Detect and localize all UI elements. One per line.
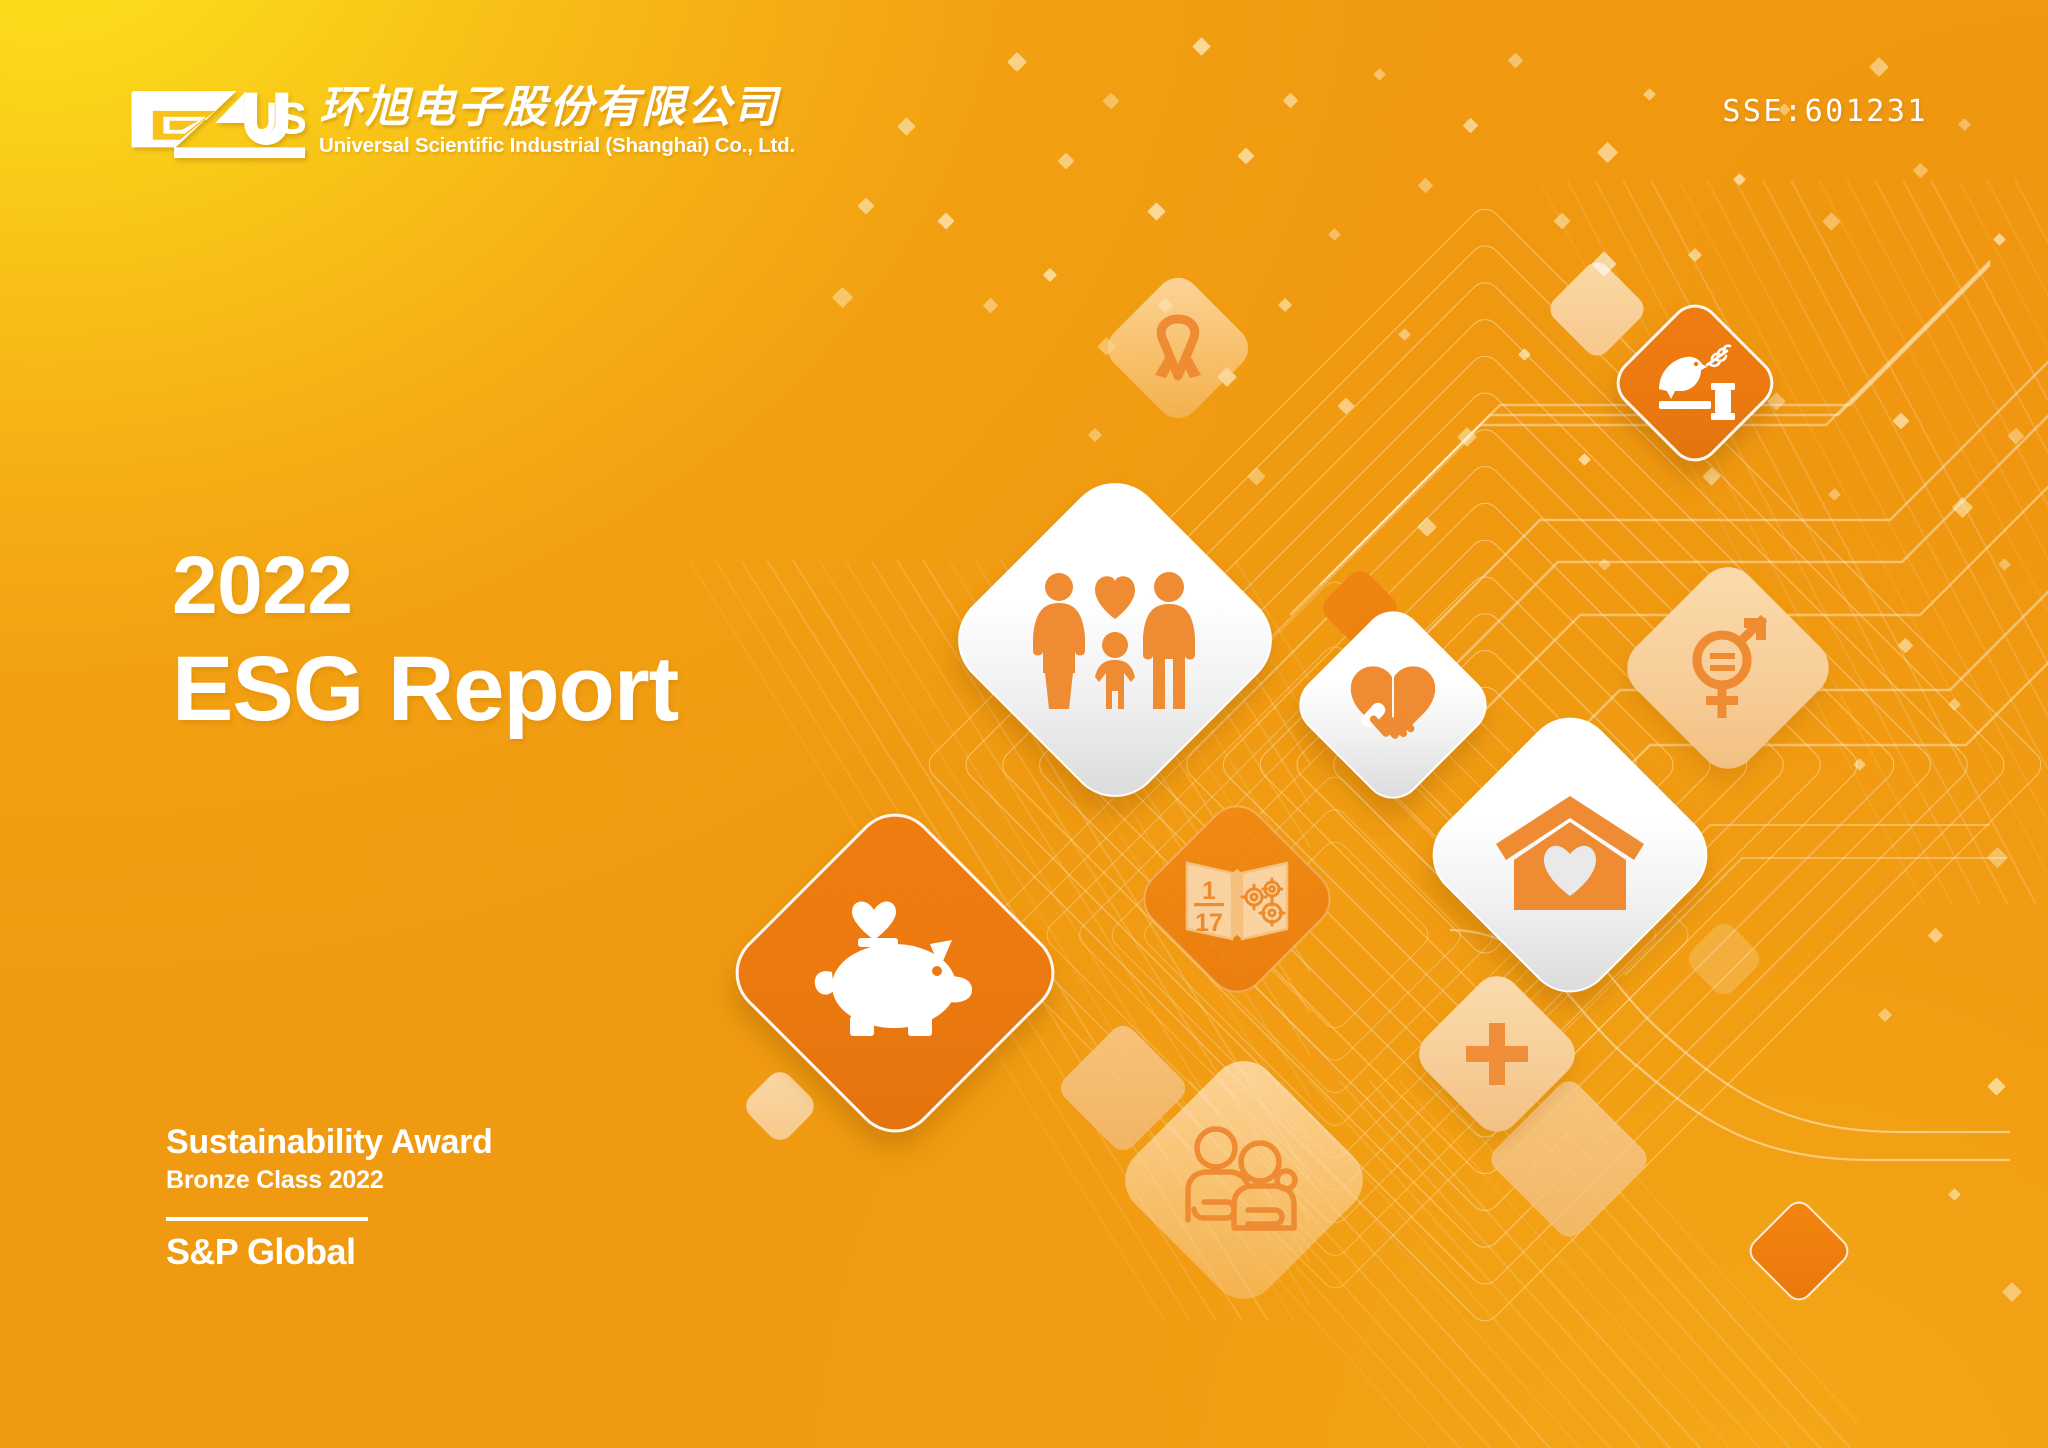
medical-cross-icon (1464, 1021, 1530, 1087)
education-book-icon: 1 17 (1182, 853, 1292, 945)
community-people-icon (1182, 1124, 1306, 1236)
home-heart-icon (1494, 792, 1646, 918)
badge-home-heart (1414, 699, 1725, 1010)
piggy-bank-heart-icon (806, 898, 984, 1048)
peace-dove-gavel-icon (1649, 343, 1741, 423)
stock-listing-code: SSE:601231 (1722, 94, 1928, 129)
usi-wing-logo-icon: USI (130, 88, 305, 158)
sustainability-award-badge: Sustainability Award Bronze Class 2022 S… (166, 1122, 493, 1273)
family-heart-icon (1025, 565, 1205, 715)
esg-report-cover: USI 环旭电子股份有限公司 Universal Scientific Indu… (0, 0, 2048, 1448)
book-fraction-denominator: 17 (1195, 909, 1223, 937)
concentric-diamond-rings (1480, 760, 1490, 770)
page-title: 2022 ESG Report (172, 545, 678, 744)
decor-diamond-6 (1744, 1196, 1854, 1306)
usi-logo-block: USI 环旭电子股份有限公司 Universal Scientific Indu… (130, 88, 795, 158)
badge-family (938, 463, 1292, 817)
decor-diamond-4 (740, 1066, 819, 1145)
company-name-cn: 环旭电子股份有限公司 (319, 86, 795, 131)
handshake-heart-icon (1340, 659, 1446, 751)
company-name-en: Universal Scientific Industrial (Shangha… (319, 134, 795, 158)
title-year: 2022 (172, 545, 678, 627)
title-main: ESG Report (172, 635, 678, 744)
book-fraction-numerator: 1 (1202, 877, 1216, 905)
gender-equality-icon (1676, 612, 1780, 724)
concentric-diamond-rings-secondary (1330, 930, 1340, 940)
cover-header: USI 环旭电子股份有限公司 Universal Scientific Indu… (0, 0, 2048, 200)
badge-awareness-ribbon (1099, 269, 1257, 427)
award-issuer: S&P Global (166, 1231, 493, 1273)
badge-education-book: 1 17 (1131, 793, 1343, 1005)
usi-logo-text: 环旭电子股份有限公司 Universal Scientific Industri… (319, 86, 795, 158)
decor-diamond-7 (1683, 918, 1765, 1000)
award-class: Bronze Class 2022 (166, 1166, 493, 1195)
award-title: Sustainability Award (166, 1122, 493, 1163)
awareness-ribbon-icon (1147, 314, 1209, 382)
svg-text:USI: USI (246, 95, 305, 144)
badge-gender-equality (1615, 555, 1841, 781)
award-divider (166, 1217, 368, 1221)
badge-handshake (1287, 599, 1499, 811)
decor-diamond-1 (1545, 257, 1650, 362)
